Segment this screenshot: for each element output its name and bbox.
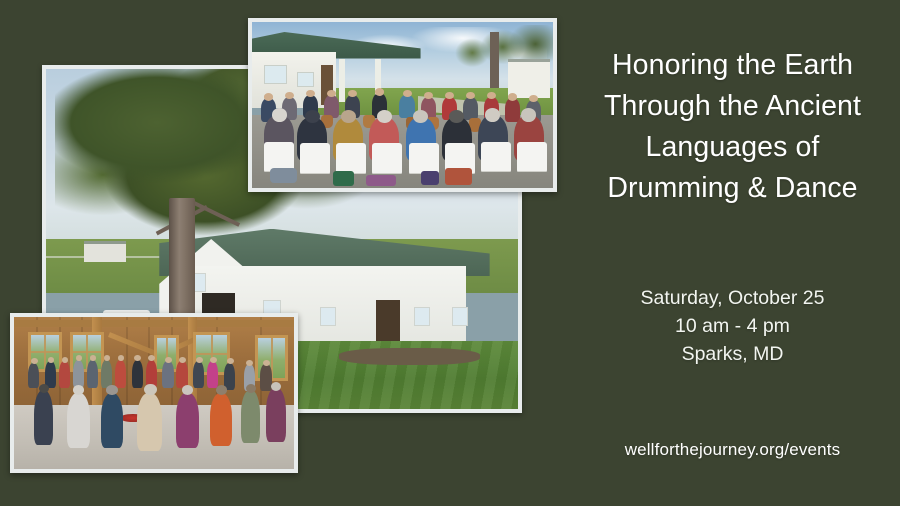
pavilion-window: [264, 65, 287, 84]
participant: [241, 390, 261, 443]
participant-head: [263, 360, 270, 366]
participant-head: [62, 357, 69, 363]
participant: [176, 361, 187, 388]
participant-head: [48, 357, 55, 363]
window-mullion: [196, 353, 226, 355]
indoor-circle-scene: [14, 317, 294, 469]
folding-chair: [409, 143, 439, 173]
participant: [266, 388, 286, 441]
event-details: Saturday, October 25 10 am - 4 pm Sparks…: [565, 284, 900, 368]
participant: [210, 393, 232, 446]
participant: [59, 361, 70, 388]
title-line-2: Through the Ancient: [565, 86, 900, 127]
participant-head: [403, 90, 412, 97]
participant: [101, 360, 112, 389]
participant-head: [445, 92, 454, 99]
participant: [73, 360, 84, 389]
participant-head: [272, 108, 287, 121]
participant-head: [305, 110, 320, 123]
participant-head: [144, 384, 157, 395]
text-column: Honoring the Earth Through the Ancient L…: [565, 0, 900, 506]
bag-on-ground: [366, 175, 396, 187]
barn-window: [414, 307, 430, 326]
folding-chair: [336, 143, 366, 173]
window-mullion: [31, 351, 59, 353]
participant: [176, 393, 198, 448]
participant: [162, 361, 173, 388]
participant-head: [106, 385, 117, 395]
flower-bed: [339, 348, 481, 365]
participant-head: [39, 384, 49, 393]
pavilion-post: [339, 59, 345, 102]
participant: [505, 98, 520, 121]
folding-chair: [264, 142, 294, 172]
ceiling-rafter: [14, 320, 294, 327]
bag-on-ground: [445, 168, 472, 185]
bag-on-ground: [333, 171, 354, 186]
participant: [87, 360, 98, 389]
title-line-1: Honoring the Earth: [565, 45, 900, 86]
pavilion-window: [297, 72, 314, 87]
participant-head: [375, 88, 384, 95]
participant-head: [165, 357, 172, 363]
photo-drum-circle: [248, 18, 557, 192]
participant-head: [466, 92, 475, 99]
folding-chair: [372, 143, 402, 173]
participant: [463, 97, 478, 120]
participant: [101, 393, 123, 448]
poster-canvas: Honoring the Earth Through the Ancient L…: [0, 0, 900, 506]
barn-window: [452, 307, 468, 326]
participant-head: [246, 384, 256, 393]
participant: [28, 363, 39, 389]
bag-on-ground: [421, 171, 439, 184]
folding-chair: [481, 142, 511, 172]
participant-head: [487, 92, 496, 99]
event-date: Saturday, October 25: [565, 284, 900, 312]
barn-window: [320, 307, 336, 326]
participant: [34, 390, 54, 445]
participant-head: [216, 385, 227, 395]
participant-head: [264, 93, 273, 100]
photo-indoor-circle: [10, 313, 298, 473]
participant-head: [424, 92, 433, 99]
participant: [260, 364, 271, 391]
participant-head: [179, 357, 186, 363]
participant: [207, 361, 218, 388]
folding-chair: [517, 142, 547, 172]
wall-plank: [126, 317, 128, 411]
participant-head: [227, 358, 234, 364]
event-title: Honoring the Earth Through the Ancient L…: [565, 45, 900, 209]
window-mullion: [73, 351, 101, 353]
drum-circle-scene: [252, 22, 553, 188]
participant-head: [31, 358, 38, 364]
folding-chair: [300, 143, 330, 173]
participant: [67, 393, 89, 448]
participant: [132, 360, 143, 389]
distant-building: [508, 59, 550, 99]
event-location: Sparks, MD: [565, 340, 900, 368]
bag-on-ground: [270, 168, 297, 183]
event-time: 10 am - 4 pm: [565, 312, 900, 340]
participant-head: [246, 360, 253, 366]
participant-head: [196, 357, 203, 363]
participant-head: [521, 108, 536, 121]
participant-head: [285, 92, 294, 99]
participant-head: [508, 93, 517, 100]
title-line-4: Drumming & Dance: [565, 168, 900, 209]
title-line-3: Languages of: [565, 127, 900, 168]
participant-head: [485, 108, 500, 121]
participant: [115, 360, 126, 389]
participant-head: [210, 357, 217, 363]
participant: [137, 393, 162, 451]
event-url[interactable]: wellforthejourney.org/events: [565, 440, 900, 460]
participant-head: [341, 110, 356, 123]
participant: [193, 361, 204, 388]
